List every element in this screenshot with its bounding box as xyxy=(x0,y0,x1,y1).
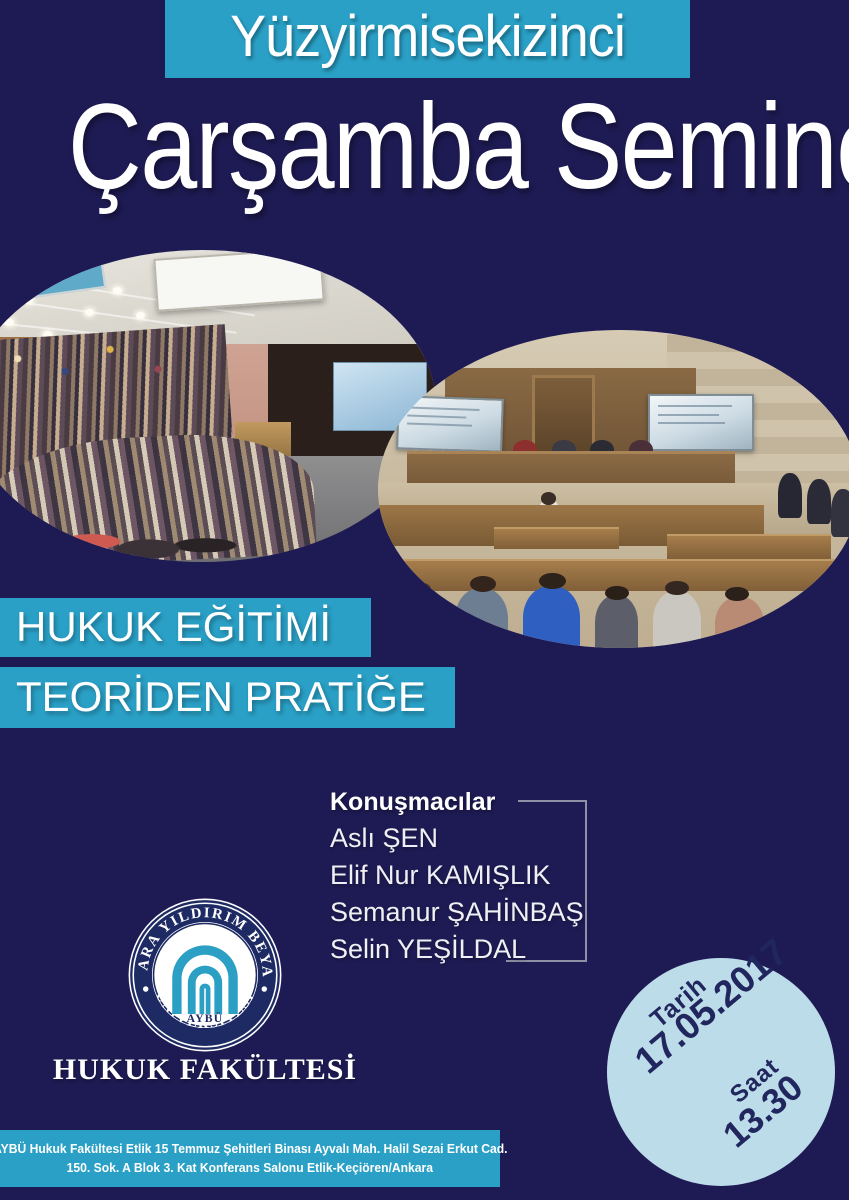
theme-line-1: HUKUK EĞİTİMİ xyxy=(0,598,371,657)
seminar-poster: Yüzyirmisekizinci Çarşamba Semineri xyxy=(0,0,849,1200)
theme-line-2: TEORİDEN PRATİĞE xyxy=(0,667,455,728)
standing-figure xyxy=(807,479,831,524)
audience-member xyxy=(595,595,638,648)
courtroom-photo xyxy=(378,330,849,648)
audience-head xyxy=(407,582,431,597)
audience-member xyxy=(397,591,440,648)
eyebrow-text: Yüzyirmisekizinci xyxy=(183,0,671,78)
screen-text-line xyxy=(408,406,479,410)
auditorium-scene xyxy=(0,250,436,562)
projection-screen-left xyxy=(396,395,504,453)
screen-text-line xyxy=(408,414,467,418)
projection-screen-right xyxy=(648,394,754,451)
seal-monogram: AYBÜ xyxy=(187,1011,224,1025)
address-line-2: 150. Sok. A Blok 3. Kat Konferans Salonu… xyxy=(67,1159,433,1178)
screen-text-line xyxy=(407,422,472,426)
screen-text-line xyxy=(658,422,725,424)
side-bench xyxy=(667,534,831,559)
page-title: Çarşamba Semineri xyxy=(68,84,781,208)
screen-text-line xyxy=(658,414,719,416)
address-footer: AYBÜ Hukuk Fakültesi Etlik 15 Temmuz Şeh… xyxy=(0,1130,500,1187)
speaker-name: Elif Nur KAMIŞLIK xyxy=(330,860,590,891)
gallery-audience xyxy=(378,559,849,648)
address-line-1: AYBÜ Hukuk Fakültesi Etlik 15 Temmuz Şeh… xyxy=(0,1140,507,1159)
aybu-seal-icon: ANKARA YILDIRIM BEYAZIT ÜNİVERSİTESİ AYB… xyxy=(127,897,283,1053)
standing-figure xyxy=(831,489,849,537)
university-logo: ANKARA YILDIRIM BEYAZIT ÜNİVERSİTESİ AYB… xyxy=(127,897,283,1053)
screen-text-line xyxy=(658,405,731,407)
audience-head xyxy=(665,581,689,595)
audience-member xyxy=(653,591,701,648)
auditorium-photo xyxy=(0,250,436,562)
audience-member xyxy=(523,586,581,648)
witness-bench xyxy=(494,527,619,549)
standing-figure xyxy=(778,473,802,518)
speakers-block: Konuşmacılar Aslı ŞEN Elif Nur KAMIŞLIK … xyxy=(330,788,590,965)
ceiling-light xyxy=(5,319,14,326)
speaker-name: Selin YEŞİLDAL xyxy=(330,934,590,965)
faculty-name: HUKUK FAKÜLTESİ xyxy=(0,1053,410,1087)
front-row-heads xyxy=(0,487,305,562)
courtroom-scene xyxy=(378,330,849,648)
date-time-badge: Tarih 17.05.2017 Saat 13.30 xyxy=(607,958,835,1186)
audience-member xyxy=(715,597,763,648)
speaker-name: Semanur ŞAHİNBAŞ xyxy=(330,897,590,928)
audience-head xyxy=(725,587,749,601)
speaker-name: Aslı ŞEN xyxy=(330,823,590,854)
audience-head xyxy=(605,586,629,600)
speaker-head xyxy=(541,492,556,505)
speakers-heading: Konuşmacılar xyxy=(330,788,590,817)
audience-member xyxy=(455,588,508,648)
